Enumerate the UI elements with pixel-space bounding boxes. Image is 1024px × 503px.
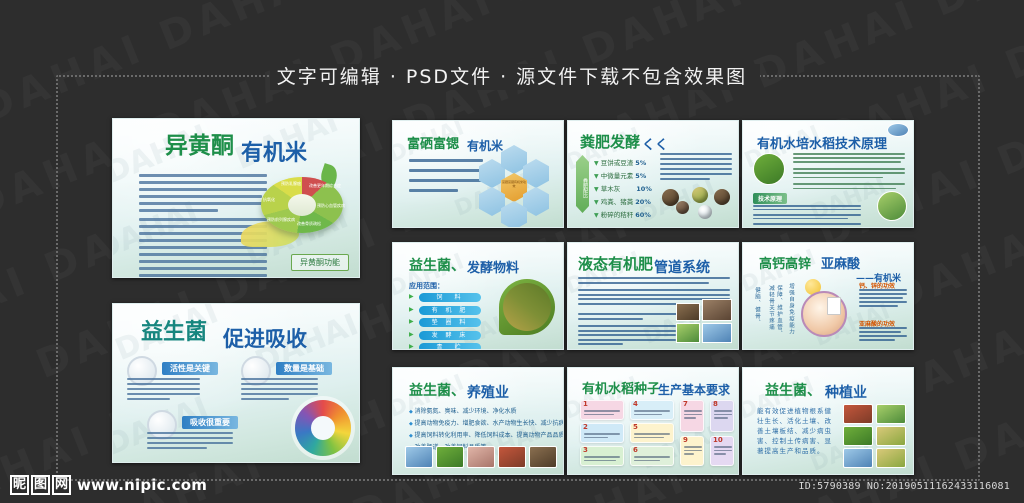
poster-title-sub: 种植业 — [825, 382, 867, 402]
requirement-box[interactable]: 4 — [630, 400, 674, 420]
requirement-box[interactable]: 3 — [580, 446, 624, 466]
poster-preview-canvas: DAHAI DAHAI DAHAI DAHAI DAHAI DAHAI DAHA… — [0, 0, 1024, 503]
requirement-box[interactable]: 9 — [680, 436, 704, 466]
section-image — [127, 356, 157, 386]
ratio-value: 10% — [636, 185, 652, 193]
ratio-row: ▼ 鸡粪、猪粪 20% — [594, 196, 651, 206]
planting-photo — [876, 426, 906, 446]
ratio-axis-label: 粪肥配比 — [576, 155, 589, 213]
ratio-row: ▼ 草木灰 10% — [594, 183, 652, 193]
box-number: 2 — [583, 423, 588, 431]
ratio-row: ▼ 粉碎的秸秆 60% — [594, 209, 651, 219]
poster-title-main: 益生菌、 — [409, 380, 465, 400]
breeding-photo — [467, 446, 495, 468]
donut-chart: 改善更年期综合症 预防乳腺癌 预防心血管疾病 改善骨质疏松 预防前列腺疾病 抗氧… — [261, 177, 343, 233]
field-photo — [877, 191, 907, 221]
list-item[interactable]: 发 酵 床 — [419, 331, 481, 340]
section-image — [147, 410, 177, 440]
paragraph-1 — [578, 277, 730, 286]
ratio-name: 豆饼或豆渣 — [601, 159, 634, 167]
facility-photo — [676, 323, 700, 343]
requirement-box[interactable]: 6 — [630, 446, 674, 466]
donut-segment-label: 预防乳腺癌 — [281, 181, 301, 187]
box-number: 4 — [633, 400, 638, 408]
poster-probiotic-absorption[interactable]: DAHAIDAHAI DAHAI 益生菌 促进吸收 活性是关键 数量是基础 — [112, 303, 360, 463]
poster-probiotic-planting[interactable]: DAHAI DAHAI 益生菌、 种植业 能有效促进植物根系健壮生长、活化土壤、… — [742, 367, 914, 475]
poster-title-main: 益生菌、 — [765, 380, 821, 400]
vertical-text: 健脑、健骨、 — [753, 287, 761, 343]
poster-title-sub: 发酵物料 — [467, 257, 519, 276]
list-item[interactable]: 垫 圈 料 — [419, 318, 481, 327]
color-wheel-graphic — [295, 400, 351, 456]
poster-liquid-fertilizer-system[interactable]: DAHAI DAHAI 液态有机肥 管道系统 — [567, 242, 739, 350]
isoflavone-function-chart: 改善更年期综合症 预防乳腺癌 预防心血管疾病 改善骨质疏松 预防前列腺疾病 抗氧… — [249, 171, 353, 249]
requirement-box[interactable]: 7 — [680, 400, 704, 432]
box-number: 10 — [713, 436, 723, 444]
ratio-name: 鸡粪、猪粪 — [601, 198, 634, 206]
donut-segment-label: 改善骨质疏松 — [297, 221, 321, 227]
box-number: 3 — [583, 446, 588, 454]
list-item[interactable]: 青 贮 — [419, 343, 481, 350]
sub-tag: 技术原理 — [753, 193, 787, 204]
soil-sample-icon — [676, 201, 689, 214]
soil-sample-icon — [714, 189, 730, 205]
rice-photo — [753, 153, 785, 185]
triangle-icon: ▼ — [594, 173, 599, 180]
poster-manure-fermentation[interactable]: DAHAI DAHAI 粪肥发酵 くく 粪肥配比 ▼ 豆饼或豆渣 5% ▼ 中微… — [567, 120, 739, 228]
arrow-icon: ▶ — [409, 331, 414, 338]
decor-photo — [887, 123, 909, 137]
poster-title-main: 益生菌 — [141, 322, 207, 344]
requirement-box[interactable]: 5 — [630, 423, 674, 443]
section-heading: 吸收很重要 — [182, 416, 238, 429]
poster-title-main: 异黄酮 — [165, 135, 234, 158]
poster-title-main: 高钙高锌 — [759, 253, 811, 272]
sub-list-1 — [859, 289, 907, 307]
ratio-row: ▼ 中微量元素 5% — [594, 170, 646, 180]
image-id-text: ID:5790389 NO:20190511162433116081 — [799, 481, 1011, 492]
poster-title-sub: くく — [642, 134, 668, 153]
ratio-name: 草木灰 — [601, 185, 621, 193]
ratio-value: 5% — [635, 159, 646, 167]
ratio-name: 粉碎的秸秆 — [601, 211, 634, 219]
poster-title-sub: 促进吸收 — [223, 329, 307, 350]
poster-title-sub: 养殖业 — [467, 382, 509, 402]
requirement-box[interactable]: 10 — [710, 436, 734, 466]
box-number: 1 — [583, 400, 588, 408]
poster-body-text — [409, 159, 483, 192]
triangle-icon: ▼ — [594, 160, 599, 167]
triangle-icon: ▼ — [594, 199, 599, 206]
poster-title-sub: 亚麻酸 — [821, 253, 860, 272]
breeding-photo — [436, 446, 464, 468]
bullet-item: 消除氨氮、臭味、减少环境、净化水质 — [409, 406, 516, 415]
facility-photo — [702, 323, 732, 343]
list-item[interactable]: 有 机 肥 — [419, 306, 481, 315]
ratio-name: 中微量元素 — [601, 172, 634, 180]
triangle-icon: ▼ — [594, 186, 599, 193]
box-number: 5 — [633, 423, 638, 431]
poster-hydroponic-rice[interactable]: DAHAI DAHAI 有机水培水稻技术原理 技术原理 — [742, 120, 914, 228]
section-absorption: 吸收很重要 — [147, 410, 267, 452]
donut-segment-label: 改善更年期综合症 — [309, 183, 341, 189]
list-label: 应用范围： — [409, 281, 444, 291]
breeding-photo — [405, 446, 433, 468]
poster-title-sub: 管道系统 — [654, 257, 710, 277]
straw-photo — [499, 279, 555, 335]
box-number: 8 — [713, 400, 718, 408]
poster-seed-standard[interactable]: DAHAI DAHAI 有机水稻种子 生产基本要求 1 2 3 4 — [567, 367, 739, 475]
requirement-box[interactable]: 8 — [710, 400, 734, 432]
planting-photo — [876, 404, 906, 424]
donut-segment-label: 预防前列腺疾病 — [267, 217, 295, 223]
site-url: www.nipic.com — [77, 476, 207, 494]
planting-photo — [843, 426, 873, 446]
poster-title-sub: 有机米 — [241, 143, 307, 165]
banner-title: 文字可编辑 · PSD文件 · 源文件下载不包含效果图 — [0, 62, 1024, 89]
ratio-value: 5% — [635, 172, 646, 180]
sub-list-2 — [859, 327, 907, 341]
ratio-value: 60% — [635, 211, 651, 219]
ratio-row: ▼ 豆饼或豆渣 5% — [594, 157, 646, 167]
planting-photo — [843, 404, 873, 424]
box-number: 6 — [633, 446, 638, 454]
hexagon-diagram: 富硒富锶有机米功效 — [479, 145, 557, 219]
box-number: 9 — [683, 436, 688, 444]
nipic-logo: 昵 图 网 — [10, 475, 71, 495]
poster-body-text: 能有效促进植物根系健壮生长、活化土壤、改善土壤板结、减少病虫害、控制土传病害、显… — [757, 406, 835, 456]
planting-photo — [843, 448, 873, 468]
poster-title-main: 富硒富锶 — [407, 133, 459, 152]
logo-char: 昵 — [10, 475, 29, 495]
vertical-text: 保障、维护血管、减轻骨关节疼痛 — [767, 285, 783, 343]
poster-body-text — [660, 153, 732, 180]
planting-photo — [876, 448, 906, 468]
poster-title-main: 益生菌、 — [409, 255, 465, 275]
requirement-box[interactable]: 1 — [580, 400, 624, 420]
logo-char: 图 — [31, 475, 50, 495]
box-number: 7 — [683, 400, 688, 408]
facility-photo — [702, 299, 732, 321]
breeding-photo — [529, 446, 557, 468]
donut-segment-label: 预防心血管疾病 — [317, 203, 345, 209]
poster-body-text — [793, 153, 905, 189]
poster-probiotic-breeding[interactable]: DAHAI DAHAI 益生菌、 养殖业 消除氨氮、臭味、减少环境、净化水质 提… — [392, 367, 564, 475]
chart-caption: 异黄酮功能 — [291, 254, 349, 271]
poster-title-main: 有机水稻种子 — [582, 378, 660, 397]
section-quantity: 数量是基础 — [241, 356, 351, 403]
triangle-icon: ▼ — [594, 212, 599, 219]
application-list: ▶饲 料 ▶有 机 肥 ▶垫 圈 料 ▶发 酵 床 ▶青 贮 — [419, 293, 481, 350]
arrow-icon: ▶ — [409, 293, 414, 300]
poster-title-main: 液态有机肥 — [578, 253, 653, 274]
arrow-icon: ▶ — [409, 318, 414, 325]
paragraph-3 — [578, 313, 686, 322]
poster-footnote-text — [753, 205, 861, 228]
package-icon — [827, 297, 841, 315]
poster-calcium-zinc[interactable]: DAHAI DAHAI 高钙高锌 亚麻酸 ——有机米 健脑、健骨、 保障、维护血… — [742, 242, 914, 350]
section-image — [241, 356, 271, 386]
section-heading: 活性是关键 — [162, 362, 218, 375]
poster-ferment-material[interactable]: DAHAI DAHAI 益生菌、 发酵物料 应用范围： ▶饲 料 ▶有 机 肥 … — [392, 242, 564, 350]
facility-photo — [676, 303, 700, 321]
poster-title-sub: 生产基本要求 — [658, 381, 730, 398]
donut-segment-label: 抗氧化 — [263, 197, 275, 203]
poster-title-main: 粪肥发酵 — [580, 131, 640, 152]
arrow-icon: ▶ — [409, 306, 414, 313]
poster-title: 有机水培水稻技术原理 — [757, 133, 887, 152]
site-branding: 昵 图 网 www.nipic.com — [10, 475, 207, 495]
requirement-box[interactable]: 2 — [580, 423, 624, 443]
vertical-text: 增强自身免疫能力 — [787, 283, 795, 341]
section-heading: 数量是基础 — [276, 362, 332, 375]
breeding-photo — [498, 446, 526, 468]
bullet-item: 提高动物免疫力、增肥食欲、水产动物生长快、减少抗病用药 — [409, 418, 564, 427]
mineral-icon — [698, 205, 712, 219]
list-item[interactable]: 饲 料 — [419, 293, 481, 302]
poster-selenium-strontium[interactable]: DAHAI DAHAI 富硒富锶 有机米 富硒富锶有机米功效 — [392, 120, 564, 228]
poster-isoflavone[interactable]: DAHAIDAHAI DAHAIDAHAI 异黄酮 有机米 改善更年期综合症 — [112, 118, 360, 278]
soil-sample-icon — [692, 187, 708, 203]
paragraph-4 — [578, 325, 676, 348]
ratio-value: 20% — [635, 198, 651, 206]
section-activity: 活性是关键 — [127, 356, 235, 403]
logo-char: 网 — [52, 475, 71, 495]
arrow-icon: ▶ — [409, 343, 414, 350]
bullet-item: 提高饲料转化利用率、降低饲料成本、提高动物产品品质 — [409, 430, 564, 439]
